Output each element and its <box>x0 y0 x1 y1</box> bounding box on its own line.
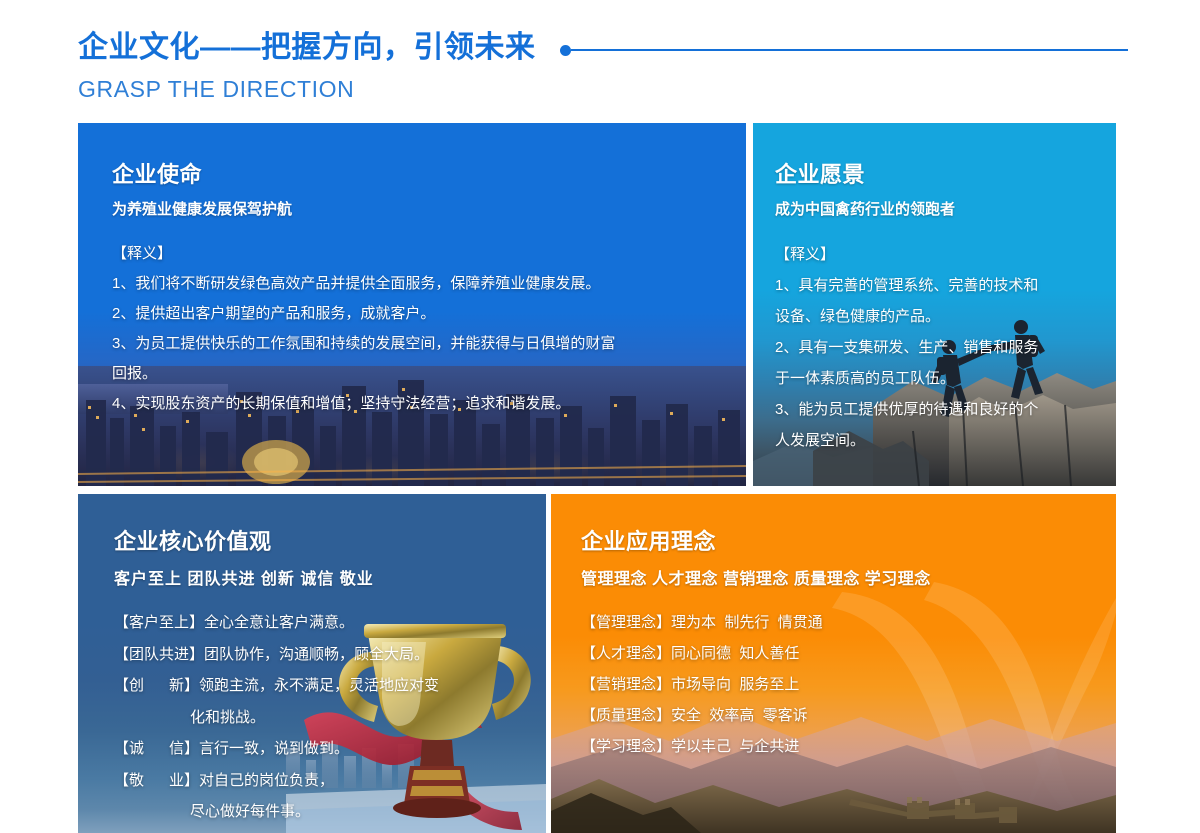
values-body-line: 尽心做好每件事。 <box>114 796 534 828</box>
ideas-slogan: 管理理念 人才理念 营销理念 质量理念 学习理念 <box>581 565 1104 589</box>
page-header: 企业文化——把握方向，引领未来 GRASP THE DIRECTION <box>78 26 1128 116</box>
values-slogan: 客户至上 团队共进 创新 诚信 敬业 <box>114 565 534 589</box>
culture-card-grid: 企业使命 为养殖业健康发展保驾护航 【释义】 1、我们将不断研发绿色高效产品并提… <box>78 123 1116 833</box>
ideas-body-line: 【质量理念】安全 效率高 零客诉 <box>581 700 1104 731</box>
mission-slogan: 为养殖业健康发展保驾护航 <box>112 198 722 219</box>
ideas-title: 企业应用理念 <box>581 524 1104 556</box>
mission-body-line: 3、为员工提供快乐的工作氛围和持续的发展空间，并能获得与日俱增的财富 <box>112 329 722 359</box>
ideas-card-content: 企业应用理念 管理理念 人才理念 营销理念 质量理念 学习理念 【管理理念】理为… <box>551 494 1116 762</box>
bullet-dot-icon <box>560 45 571 56</box>
vision-body-line: 1、具有完善的管理系统、完善的技术和 <box>775 270 1096 301</box>
card-core-values: 企业核心价值观 客户至上 团队共进 创新 诚信 敬业 【客户至上】全心全意让客户… <box>78 494 546 833</box>
mission-body-line: 回报。 <box>112 359 722 389</box>
vision-body: 【释义】 1、具有完善的管理系统、完善的技术和 设备、绿色健康的产品。 2、具有… <box>775 239 1096 456</box>
ideas-body-line: 【学习理念】学以丰己 与企共进 <box>581 731 1104 762</box>
vision-body-line: 人发展空间。 <box>775 425 1096 456</box>
values-body: 【客户至上】全心全意让客户满意。 【团队共进】团队协作，沟通顺畅，顾全大局。 【… <box>114 607 534 828</box>
mission-body-line: 1、我们将不断研发绿色高效产品并提供全面服务，保障养殖业健康发展。 <box>112 269 722 299</box>
header-divider-rule <box>560 45 1129 56</box>
ideas-body-line: 【营销理念】市场导向 服务至上 <box>581 669 1104 700</box>
mission-body-line: 【释义】 <box>112 239 722 269</box>
mission-body-line: 4、实现股东资产的长期保值和增值；坚持守法经营；追求和谐发展。 <box>112 389 722 419</box>
card-application-philosophy: 企业应用理念 管理理念 人才理念 营销理念 质量理念 学习理念 【管理理念】理为… <box>551 494 1116 833</box>
vision-body-line: 【释义】 <box>775 239 1096 270</box>
vision-card-content: 企业愿景 成为中国禽药行业的领跑者 【释义】 1、具有完善的管理系统、完善的技术… <box>753 123 1116 456</box>
header-title-row: 企业文化——把握方向，引领未来 <box>78 26 1128 70</box>
values-body-line: 【敬 业】对自己的岗位负责， <box>114 765 534 797</box>
values-title: 企业核心价值观 <box>114 524 534 556</box>
enterprise-culture-page: 企业文化——把握方向，引领未来 GRASP THE DIRECTION <box>0 0 1200 833</box>
values-body-line: 【团队共进】团队协作，沟通顺畅，顾全大局。 <box>114 639 534 671</box>
vision-body-line: 2、具有一支集研发、生产、销售和服务 <box>775 332 1096 363</box>
values-body-line: 【诚 信】言行一致，说到做到。 <box>114 733 534 765</box>
mission-body: 【释义】 1、我们将不断研发绿色高效产品并提供全面服务，保障养殖业健康发展。 2… <box>112 239 722 419</box>
vision-title: 企业愿景 <box>775 157 1096 189</box>
mission-title: 企业使命 <box>112 157 722 189</box>
vision-body-line: 于一体素质高的员工队伍。 <box>775 363 1096 394</box>
mission-card-content: 企业使命 为养殖业健康发展保驾护航 【释义】 1、我们将不断研发绿色高效产品并提… <box>78 123 746 419</box>
vision-slogan: 成为中国禽药行业的领跑者 <box>775 198 1096 219</box>
ideas-body-line: 【管理理念】理为本 制先行 情贯通 <box>581 607 1104 638</box>
card-corporate-vision: 企业愿景 成为中国禽药行业的领跑者 【释义】 1、具有完善的管理系统、完善的技术… <box>753 123 1116 486</box>
ideas-body-line: 【人才理念】同心同德 知人善任 <box>581 638 1104 669</box>
values-body-line: 【客户至上】全心全意让客户满意。 <box>114 607 534 639</box>
values-card-content: 企业核心价值观 客户至上 团队共进 创新 诚信 敬业 【客户至上】全心全意让客户… <box>78 494 546 828</box>
vision-body-line: 设备、绿色健康的产品。 <box>775 301 1096 332</box>
vision-body-line: 3、能为员工提供优厚的待遇和良好的个 <box>775 394 1096 425</box>
values-body-line: 化和挑战。 <box>114 702 534 734</box>
ideas-body: 【管理理念】理为本 制先行 情贯通 【人才理念】同心同德 知人善任 【营销理念】… <box>581 607 1104 762</box>
card-corporate-mission: 企业使命 为养殖业健康发展保驾护航 【释义】 1、我们将不断研发绿色高效产品并提… <box>78 123 746 486</box>
values-body-line: 【创 新】领跑主流，永不满足，灵活地应对变 <box>114 670 534 702</box>
page-subtitle: GRASP THE DIRECTION <box>78 76 1128 103</box>
mission-body-line: 2、提供超出客户期望的产品和服务，成就客户。 <box>112 299 722 329</box>
page-title: 企业文化——把握方向，引领未来 <box>78 26 536 70</box>
horizontal-line <box>571 49 1129 51</box>
